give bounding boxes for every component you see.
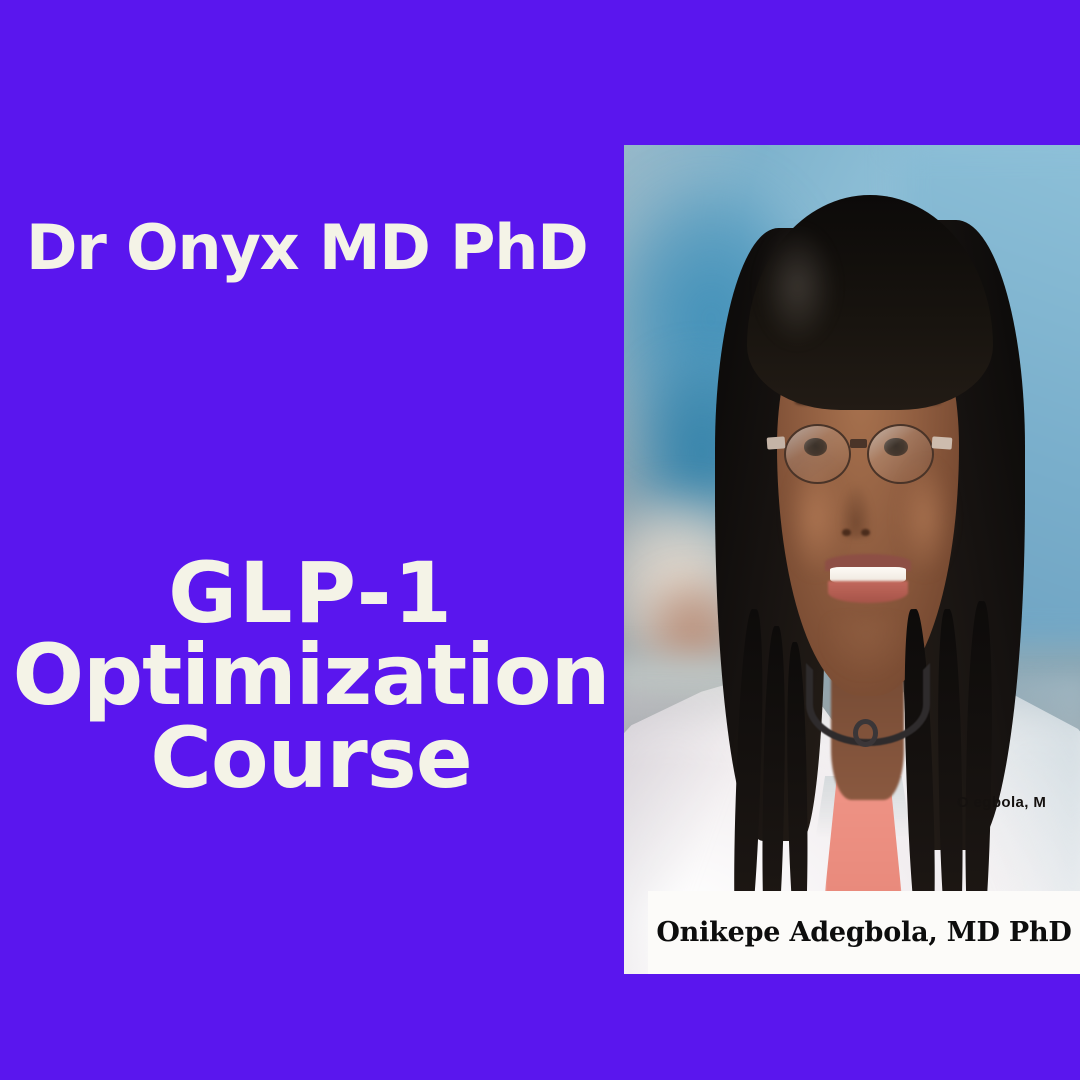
nostril-right: [861, 529, 870, 536]
portrait-photo: O egbola, M Onikepe Adegbola, MD PhD: [624, 145, 1080, 974]
poster-canvas: Dr Onyx MD PhD GLP-1 Optimization Course: [0, 0, 1080, 1080]
eyeglasses-temple-left: [766, 436, 785, 449]
course-title: GLP-1 Optimization Course: [0, 552, 622, 799]
eyeglasses-lens-right: [867, 424, 934, 485]
hair-highlight: [761, 228, 834, 344]
eyeglasses-bridge: [850, 439, 867, 447]
course-title-line-1: GLP-1: [0, 552, 622, 634]
lower-lip: [828, 581, 908, 602]
brand-title: Dr Onyx MD PhD: [26, 217, 587, 279]
eyeglasses-lens-left: [784, 424, 851, 485]
mouth: [825, 554, 912, 599]
name-caption-band: Onikepe Adegbola, MD PhD: [648, 891, 1080, 974]
course-title-line-3: Course: [0, 717, 622, 799]
course-title-line-2: Optimization: [0, 634, 622, 716]
eyeglasses-temple-right: [932, 436, 953, 449]
lab-coat-embroidery: O egbola, M: [957, 794, 1046, 811]
necklace-pendant-ring: [853, 719, 879, 747]
name-caption-text: Onikepe Adegbola, MD PhD: [656, 917, 1071, 948]
nostril-left: [842, 529, 851, 536]
